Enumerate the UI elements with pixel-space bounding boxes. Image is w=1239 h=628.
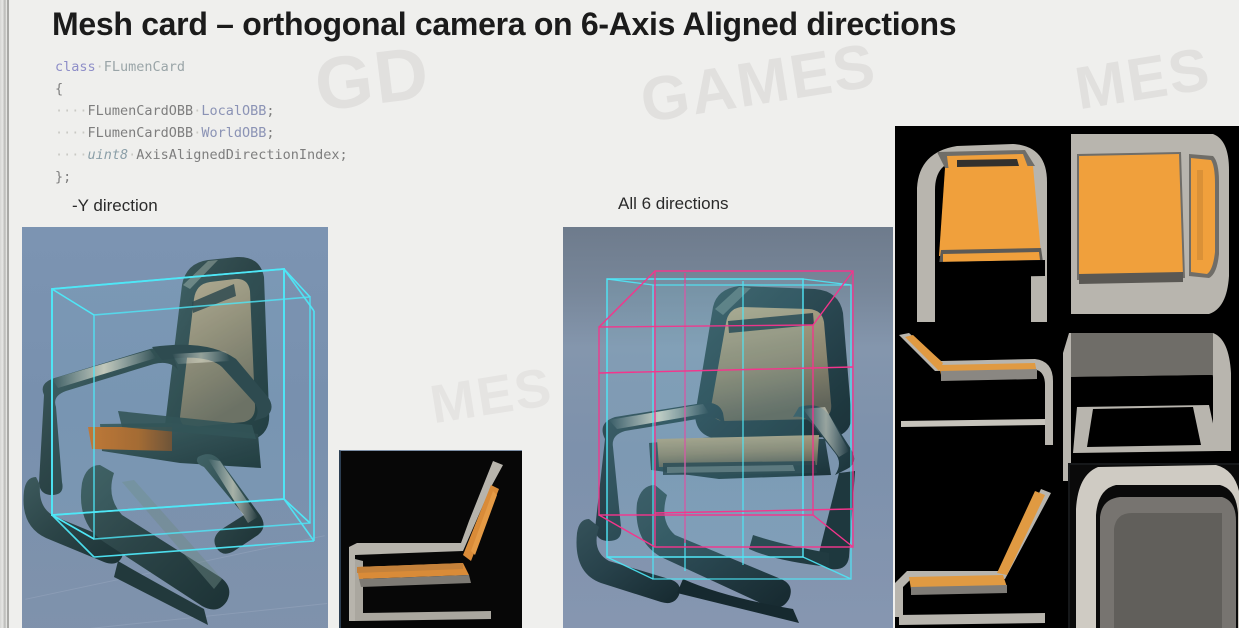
- page-title: Mesh card – orthogonal camera on 6-Axis …: [52, 6, 956, 43]
- left-gutter: [0, 0, 7, 628]
- cell-back-depth: [1063, 333, 1239, 481]
- chair-model-left: [22, 227, 328, 628]
- chair-model-right: [563, 227, 893, 628]
- left-rule-divider: [7, 0, 9, 628]
- card-side-albedo: [341, 451, 522, 628]
- line-5: ····uint8·AxisAlignedDirectionIndex;: [55, 144, 348, 166]
- line-3: ····FLumenCardOBB·LocalOBB;: [55, 100, 348, 122]
- cell-front-albedo: [895, 126, 1061, 331]
- line-4: ····FLumenCardOBB·WorldOBB;: [55, 122, 348, 144]
- line-2: {: [55, 78, 348, 100]
- card-inset-side-view: [339, 450, 522, 628]
- watermark-4: MES: [426, 356, 557, 436]
- watermark-2: GAMES: [636, 30, 882, 137]
- viewport-minus-y[interactable]: [22, 227, 328, 628]
- viewport-right-label: All 6 directions: [618, 194, 729, 214]
- viewport-left-label: -Y direction: [72, 196, 158, 216]
- cell-side2-albedo: [895, 483, 1061, 628]
- line-6: };: [55, 166, 348, 188]
- code-block: class·FLumenCard{····FLumenCardOBB·Local…: [55, 56, 348, 188]
- slide-root: GD GAMES MES MES Mesh card – orthogonal …: [0, 0, 1239, 628]
- viewport-all-6[interactable]: [563, 227, 893, 628]
- cell-top-albedo: [1063, 126, 1239, 331]
- cell-side-albedo: [895, 333, 1061, 481]
- card-bottom-overlay: [1068, 463, 1239, 628]
- watermark-3: MES: [1070, 34, 1215, 123]
- line-1: class·FLumenCard: [55, 56, 348, 78]
